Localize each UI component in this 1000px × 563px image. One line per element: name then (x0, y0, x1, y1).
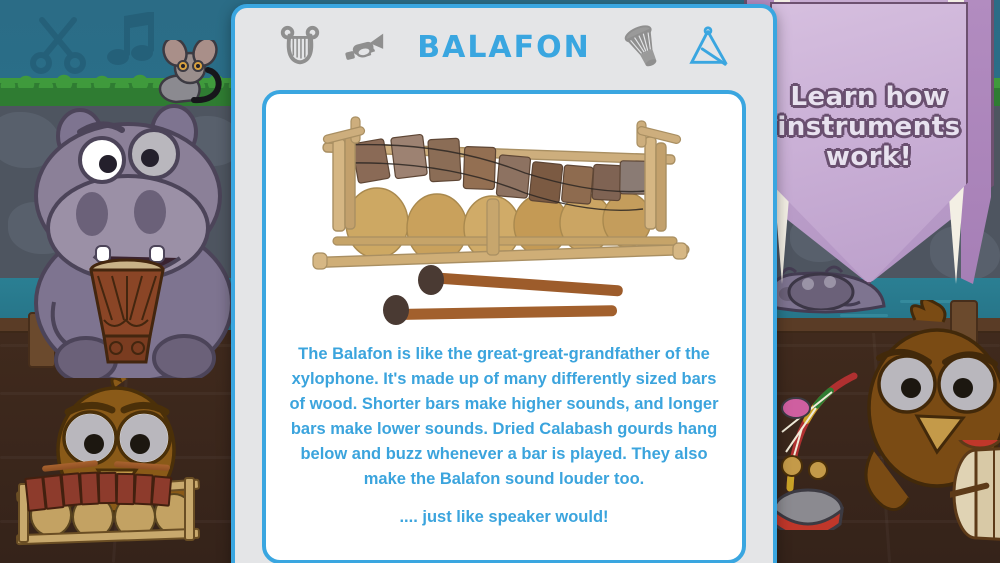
calabash-harp (772, 370, 872, 530)
balafon-mallet (114, 461, 170, 471)
mallet-1 (418, 265, 623, 297)
balafon-toy (6, 455, 206, 555)
instrument-info-panel: BALAFON (231, 4, 777, 563)
banner-line-1: Learn how (744, 82, 994, 112)
instrument-tagline: .... just like speaker would! (288, 508, 720, 527)
triangle-icon[interactable] (685, 24, 731, 70)
balafon-photo (276, 100, 732, 338)
instrument-card: The Balafon is like the great-great-gran… (262, 90, 746, 563)
side-drum (950, 440, 1000, 550)
scissors-icon (28, 14, 88, 76)
mallet-2 (383, 295, 617, 325)
balafon-mallet (42, 460, 98, 472)
panel-header: BALAFON (235, 8, 773, 86)
banner-text: Learn how instruments work! (744, 82, 994, 172)
banner-line-2: instruments (744, 112, 994, 142)
page-title: BALAFON (405, 30, 603, 65)
trumpet-icon[interactable] (341, 24, 387, 70)
app-screen: Learn how instruments work! (0, 0, 1000, 563)
learn-how-banner: Learn how instruments work! (744, 0, 994, 284)
banner-line-3: work! (744, 142, 994, 172)
djembe-icon[interactable] (621, 24, 667, 70)
djembe-drum (82, 258, 172, 366)
lyre-icon[interactable] (277, 24, 323, 70)
instrument-description: The Balafon is like the great-great-gran… (288, 342, 720, 492)
balafon-photo-graphic (289, 103, 719, 335)
